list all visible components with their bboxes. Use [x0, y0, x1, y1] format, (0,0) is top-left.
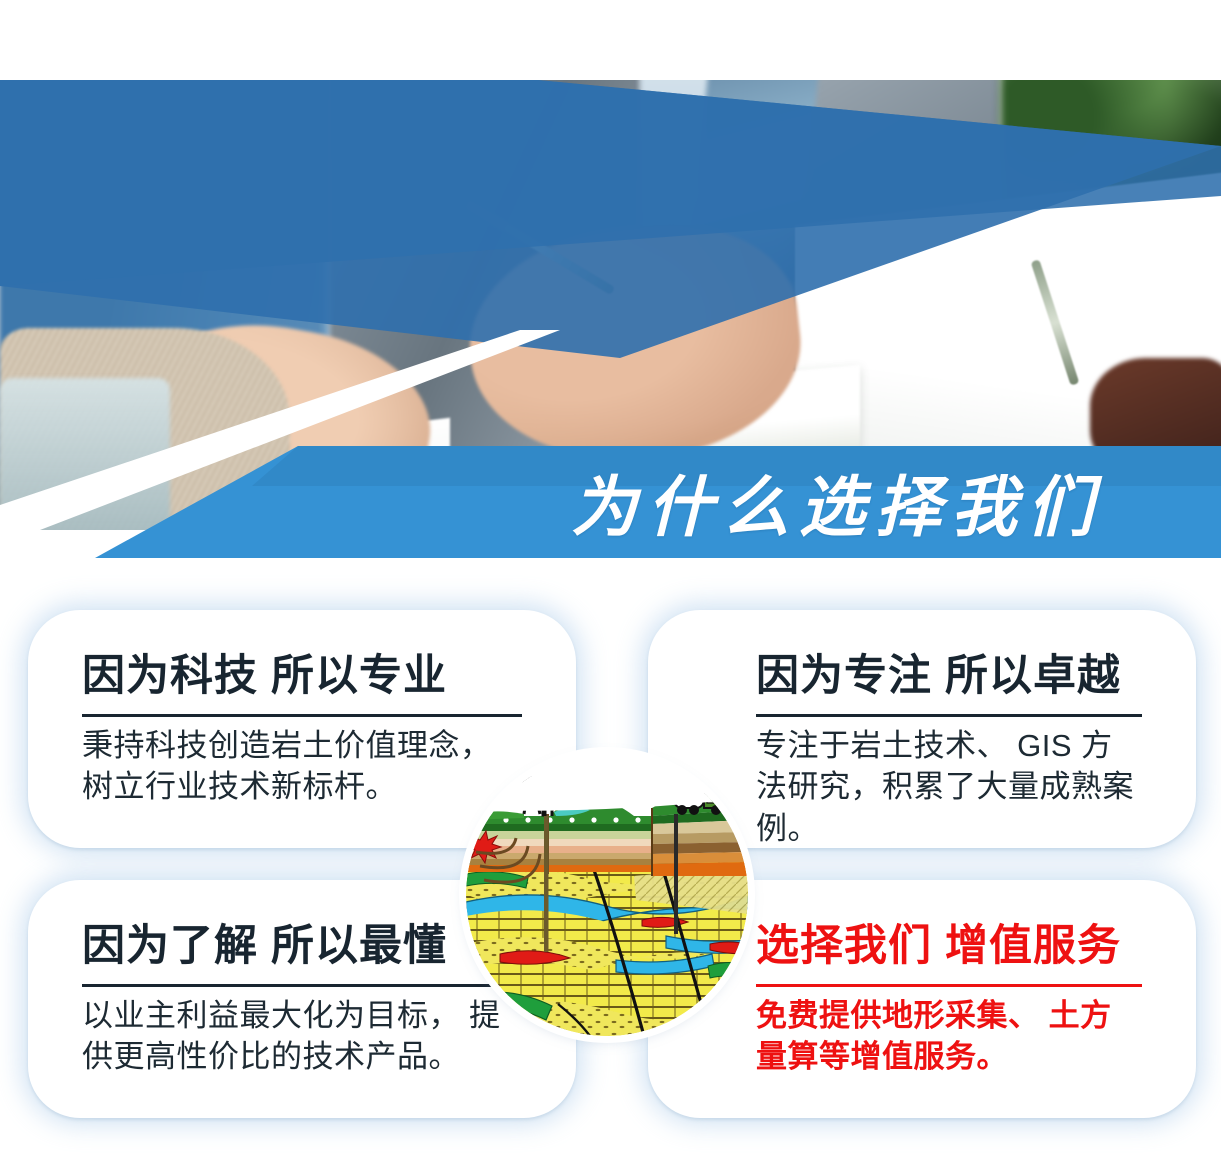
- card-divider-tech: [82, 714, 522, 717]
- hero-section: 为什么选择我们: [0, 0, 1221, 570]
- card-body-focus: 专注于岩土技术、 GIS 方法研究，积累了大量成熟案例。: [756, 725, 1142, 850]
- card-heading-tech: 因为科技 所以专业: [82, 652, 522, 702]
- card-heading-value-added: 选择我们 增值服务: [756, 922, 1142, 972]
- hero-top-white-margin: [0, 0, 1221, 80]
- card-body-tech: 秉持科技创造岩土价值理念， 树立行业技术新标杆。: [82, 725, 522, 808]
- banner-title: 为什么选择我们: [0, 446, 1221, 558]
- card-body-value-added: 免费提供地形采集、 土方量算等增值服务。: [756, 995, 1142, 1078]
- card-heading-focus: 因为专注 所以卓越: [756, 652, 1142, 702]
- geological-cross-section-illustration: [466, 754, 748, 1036]
- card-heading-understand: 因为了解 所以最懂: [82, 922, 522, 972]
- card-divider-focus: [756, 714, 1142, 717]
- card-body-understand: 以业主利益最大化为目标， 提供更高性价比的技术产品。: [82, 995, 522, 1078]
- card-divider-understand: [82, 984, 522, 987]
- geo-circle-clip: [466, 754, 748, 1036]
- geo-svg: [466, 754, 748, 1036]
- card-divider-value-added: [756, 984, 1142, 987]
